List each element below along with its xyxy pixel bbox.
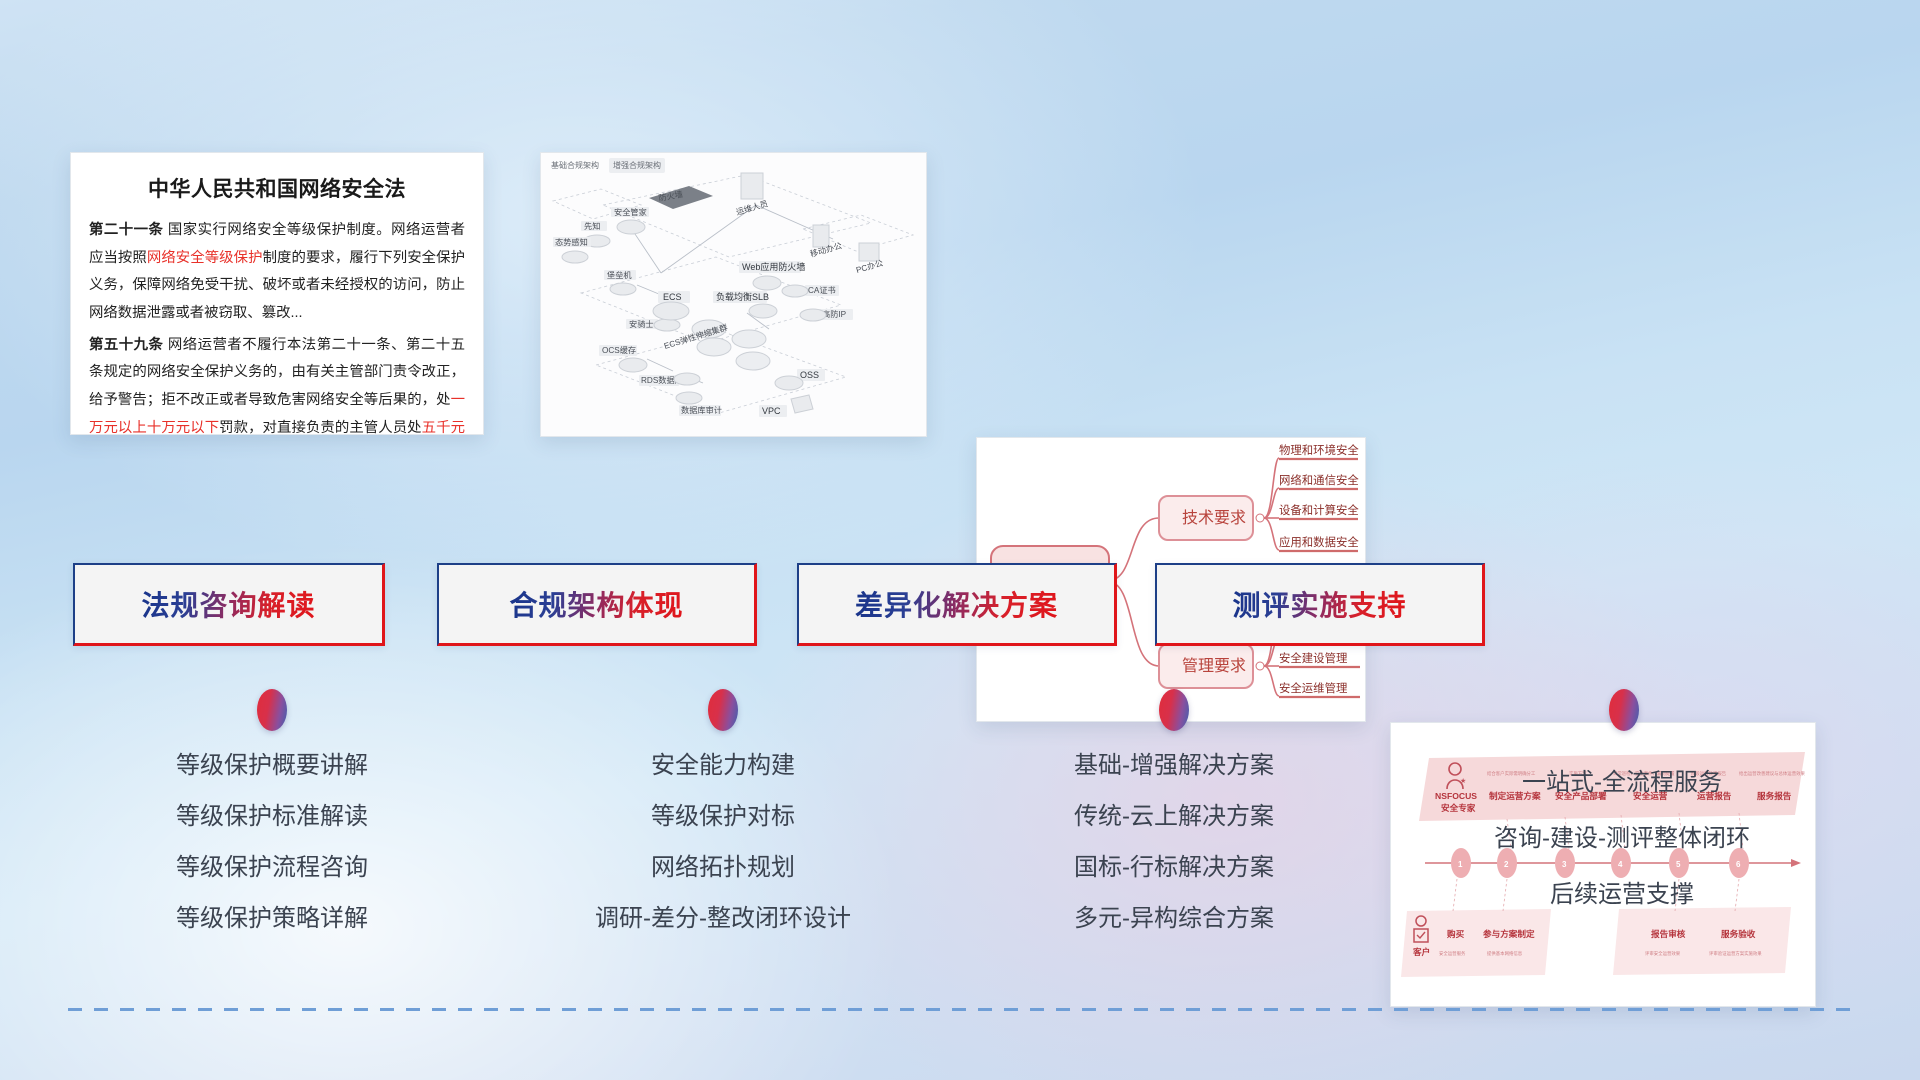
header-label-3: 测评实施支持: [1232, 584, 1406, 624]
law-article-59: 第五十九条 网络运营者不履行本法第二十一条、第二十五条规定的网络安全保护义务的，…: [89, 332, 465, 435]
architecture-node-ca-certificate: CA证书: [782, 285, 839, 297]
mindmap-branch-0-label: 技术要求: [1182, 509, 1246, 527]
svg-text:OSS: OSS: [800, 370, 819, 380]
list-item: 等级保护标准解读: [62, 791, 482, 842]
nsfocus-bottom-title-1: 参与方案制定: [1483, 928, 1535, 939]
law-article-59-text-b: 罚款，对直接负责的主管人员处: [219, 420, 421, 435]
header-box-3[interactable]: 测评实施支持: [1155, 563, 1485, 646]
list-item: 等级保护概要讲解: [62, 740, 482, 791]
law-title: 中华人民共和国网络安全法: [89, 173, 465, 203]
list-item: 等级保护对标: [513, 791, 933, 842]
svg-text:堡垒机: 堡垒机: [607, 270, 632, 280]
architecture-diagram: 防火墙 安全管家 先知 态势感知 堡垒机: [541, 153, 926, 436]
header-box-1[interactable]: 合规架构体现: [437, 563, 757, 646]
column-list-3: 一站式-全流程服务 咨询-建设-测评整体闭环 后续运营支撑: [1412, 755, 1832, 923]
architecture-node-anqishi: 安骑士: [626, 319, 680, 331]
list-item: 网络拓扑规划: [513, 842, 933, 893]
card-cloud-architecture: 基础合规架构 增强合规架构 防火墙: [540, 152, 927, 437]
list-item: 国标-行标解决方案: [964, 842, 1384, 893]
nsfocus-bottom-title-3: 服务验收: [1721, 928, 1756, 939]
column-list-2: 基础-增强解决方案 传统-云上解决方案 国标-行标解决方案 多元-异构综合方案: [964, 740, 1384, 944]
timeline-dot-0[interactable]: [257, 689, 287, 731]
header-box-2[interactable]: 差异化解决方案: [797, 563, 1117, 646]
list-item: 一站式-全流程服务: [1412, 755, 1832, 811]
card-law-text: 中华人民共和国网络安全法 第二十一条 国家实行网络安全等级保护制度。网络运营者应…: [70, 152, 484, 435]
list-item: 后续运营支撑: [1412, 867, 1832, 923]
law-article-21-highlight: 网络安全等级保护: [147, 250, 263, 266]
timeline-dot-3[interactable]: [1609, 689, 1639, 731]
column-list-0: 等级保护概要讲解 等级保护标准解读 等级保护流程咨询 等级保护策略详解: [62, 740, 482, 944]
list-item: 调研-差分-整改闭环设计: [513, 893, 933, 944]
architecture-node-situational-awareness: 态势感知: [553, 237, 591, 263]
nsfocus-bottom-sub-2: 评审安全运营效果: [1645, 950, 1681, 957]
header-label-0: 法规咨询解读: [141, 584, 315, 624]
law-article-59-label: 第五十九条: [89, 337, 163, 353]
svg-text:安全管家: 安全管家: [614, 207, 647, 217]
svg-text:VPC: VPC: [762, 406, 781, 416]
architecture-node-vpc: VPC: [759, 395, 813, 417]
timeline-track: [68, 1008, 1852, 1011]
architecture-node-rds: RDS数据库: [639, 373, 700, 386]
list-item: 安全能力构建: [513, 740, 933, 791]
list-item: 传统-云上解决方案: [964, 791, 1384, 842]
list-item: 等级保护流程咨询: [62, 842, 482, 893]
nsfocus-customer-label: 客户: [1412, 946, 1430, 957]
mindmap-leaf-1-2: 安全建设管理: [1279, 651, 1348, 665]
law-article-21: 第二十一条 国家实行网络安全等级保护制度。网络运营者应当按照网络安全等级保护制度…: [89, 217, 465, 328]
nsfocus-bottom-title-2: 报告审核: [1651, 928, 1686, 939]
architecture-node-anti-ddos-ip: 高防IP: [800, 309, 853, 321]
list-item: 等级保护策略详解: [62, 893, 482, 944]
svg-text:OCS缓存: OCS缓存: [602, 345, 636, 355]
mindmap-branch-1-label: 管理要求: [1182, 657, 1246, 675]
architecture-node-oss: OSS: [775, 369, 825, 390]
mindmap-leaf-0-0: 物理和环境安全: [1279, 443, 1359, 457]
svg-text:负载均衡SLB: 负载均衡SLB: [716, 291, 769, 302]
list-item: 基础-增强解决方案: [964, 740, 1384, 791]
svg-text:CA证书: CA证书: [808, 285, 836, 295]
architecture-node-security-steward: 安全管家: [611, 207, 649, 234]
architecture-node-db-audit: 数据库审计: [676, 392, 722, 416]
mindmap-leaf-1-3: 安全运维管理: [1279, 681, 1348, 695]
svg-text:Web应用防火墙: Web应用防火墙: [742, 261, 805, 272]
svg-text:ECS: ECS: [663, 292, 682, 302]
nsfocus-bottom-sub-0: 安全运营服务: [1439, 950, 1466, 957]
slide-canvas: 中华人民共和国网络安全法 第二十一条 国家实行网络安全等级保护制度。网络运营者应…: [0, 0, 1920, 1080]
mindmap-leaf-0-1: 网络和通信安全: [1279, 473, 1359, 487]
timeline-dot-2[interactable]: [1159, 689, 1189, 731]
nsfocus-bottom-sub-1: 提供基本网络信息: [1487, 950, 1523, 957]
mindmap-leaf-0-2: 设备和计算安全: [1279, 503, 1359, 517]
svg-text:态势感知: 态势感知: [555, 237, 588, 247]
svg-text:安骑士: 安骑士: [629, 319, 654, 329]
list-item: 多元-异构综合方案: [964, 893, 1384, 944]
svg-text:运维人员: 运维人员: [735, 198, 769, 217]
header-label-2: 差异化解决方案: [855, 584, 1058, 624]
nsfocus-bottom-sub-3: 评审验证运营方案实施效果: [1709, 950, 1762, 957]
mindmap-leaf-0-3: 应用和数据安全: [1279, 535, 1359, 549]
law-article-21-label: 第二十一条: [89, 222, 163, 238]
architecture-node-firewall: 防火墙: [649, 186, 713, 209]
svg-text:数据库审计: 数据库审计: [681, 405, 722, 415]
architecture-node-pc-office: PC办公: [855, 243, 884, 275]
architecture-node-mobile-office: 移动办公: [809, 225, 843, 259]
header-box-0[interactable]: 法规咨询解读: [73, 563, 385, 646]
list-item: 咨询-建设-测评整体闭环: [1412, 811, 1832, 867]
architecture-node-bastion-host: 堡垒机: [604, 270, 636, 295]
architecture-node-ecs: ECS: [653, 291, 690, 320]
architecture-node-ops-personnel: 运维人员: [735, 173, 769, 217]
header-label-1: 合规架构体现: [509, 584, 683, 624]
svg-text:先知: 先知: [584, 221, 600, 231]
nsfocus-bottom-title-0: 购买: [1447, 928, 1465, 939]
timeline-dot-1[interactable]: [708, 689, 738, 731]
architecture-node-ocs-cache: OCS缓存: [599, 345, 647, 372]
column-list-1: 安全能力构建 等级保护对标 网络拓扑规划 调研-差分-整改闭环设计: [513, 740, 933, 944]
architecture-node-slb: 负载均衡SLB: [713, 291, 777, 318]
